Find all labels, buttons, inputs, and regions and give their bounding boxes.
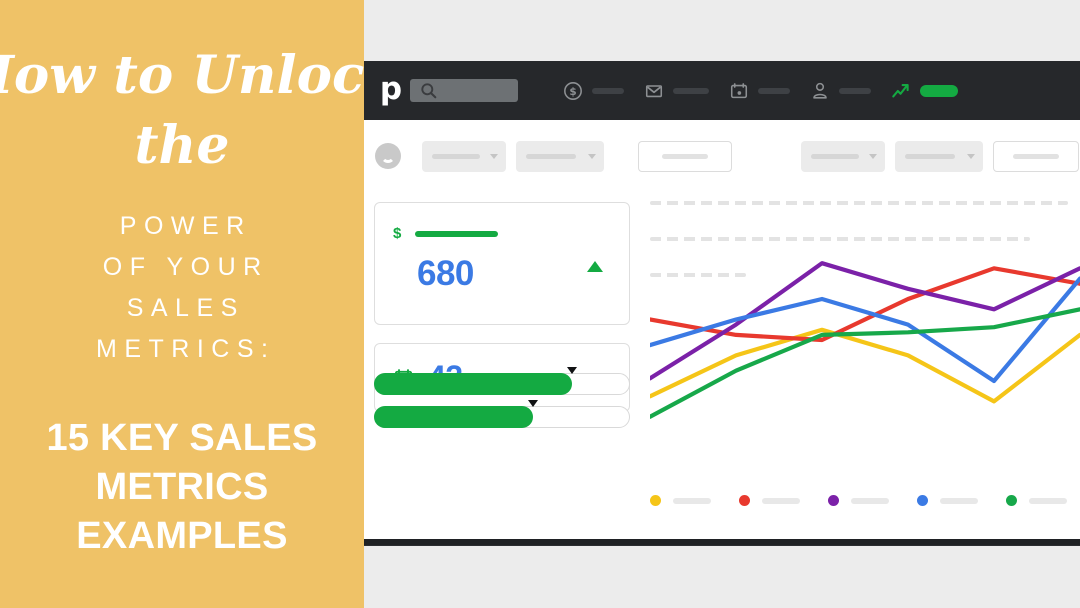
legend-label-placeholder bbox=[762, 498, 800, 504]
legend-label-placeholder bbox=[673, 498, 711, 504]
chart-plot-area bbox=[650, 194, 1080, 484]
app-logo[interactable]: p bbox=[374, 74, 408, 108]
toolbar-left-controls bbox=[422, 141, 604, 172]
chevron-down-icon bbox=[967, 154, 975, 159]
legend-label-placeholder bbox=[940, 498, 978, 504]
legend-item[interactable] bbox=[1006, 495, 1067, 506]
trending-up-icon bbox=[891, 81, 911, 101]
dropdown-label-placeholder bbox=[905, 154, 955, 159]
promo-script-line-1: How to Unlock bbox=[0, 50, 364, 102]
avatar[interactable] bbox=[375, 143, 401, 169]
nav-label-active-placeholder bbox=[920, 85, 958, 97]
chevron-down-icon bbox=[869, 154, 877, 159]
promo-script-line-2: the bbox=[135, 120, 230, 172]
filter-dropdown-1[interactable] bbox=[422, 141, 506, 172]
legend-dot-icon bbox=[650, 495, 661, 506]
nav-item-activities[interactable] bbox=[729, 81, 790, 101]
nav-label-placeholder bbox=[758, 88, 790, 94]
promo-bold-line-3: EXAMPLES bbox=[46, 512, 317, 561]
avatar-smile-icon bbox=[381, 149, 395, 163]
promo-thin-line-3: SALES bbox=[89, 288, 276, 329]
calendar-icon bbox=[729, 81, 749, 101]
nav-item-insights[interactable] bbox=[891, 81, 958, 101]
chevron-down-icon bbox=[490, 154, 498, 159]
button-label-placeholder bbox=[1013, 154, 1059, 159]
nav-label-placeholder bbox=[839, 88, 871, 94]
progress-marker-icon bbox=[528, 400, 538, 407]
legend-label-placeholder bbox=[1029, 498, 1067, 504]
legend-dot-icon bbox=[828, 495, 839, 506]
revenue-value: 680 bbox=[417, 254, 611, 294]
nav-label-placeholder bbox=[673, 88, 709, 94]
promo-subtitle-block: POWER OF YOUR SALES METRICS: bbox=[89, 206, 276, 370]
progress-bars bbox=[374, 371, 630, 437]
promo-bold-line-1: 15 KEY SALES bbox=[46, 414, 317, 463]
envelope-icon bbox=[644, 81, 664, 101]
device-bezel-hairline bbox=[364, 545, 1080, 546]
promo-thin-line-2: OF YOUR bbox=[89, 247, 276, 288]
screenshot-root: How to Unlock the POWER OF YOUR SALES ME… bbox=[0, 0, 1080, 608]
nav-item-contacts[interactable] bbox=[810, 81, 871, 101]
line-chart[interactable] bbox=[650, 194, 1080, 539]
promo-panel: How to Unlock the POWER OF YOUR SALES ME… bbox=[0, 0, 364, 608]
top-navigation-bar: p $ bbox=[364, 61, 1080, 120]
revenue-card-header: $ bbox=[393, 225, 611, 242]
legend-item[interactable] bbox=[739, 495, 800, 506]
revenue-card[interactable]: $ 680 bbox=[374, 202, 630, 325]
nav-label-placeholder bbox=[592, 88, 624, 94]
progress-fill bbox=[374, 406, 533, 428]
dollar-circle-icon: $ bbox=[563, 81, 583, 101]
progress-bar-1[interactable] bbox=[374, 371, 630, 395]
search-input[interactable] bbox=[410, 79, 518, 102]
promo-bold-line-2: METRICS bbox=[46, 463, 317, 512]
chart-legend bbox=[650, 495, 1080, 506]
dropdown-label-placeholder bbox=[526, 154, 576, 159]
person-icon bbox=[810, 81, 830, 101]
legend-item[interactable] bbox=[917, 495, 978, 506]
legend-label-placeholder bbox=[851, 498, 889, 504]
promo-thin-line-1: POWER bbox=[89, 206, 276, 247]
legend-dot-icon bbox=[739, 495, 750, 506]
nav-items: $ bbox=[563, 81, 958, 101]
svg-text:$: $ bbox=[569, 86, 576, 98]
revenue-trend-up-icon bbox=[587, 261, 603, 272]
legend-dot-icon bbox=[917, 495, 928, 506]
filter-dropdown-3[interactable] bbox=[801, 141, 885, 172]
dropdown-label-placeholder bbox=[811, 154, 859, 159]
chevron-down-icon bbox=[588, 154, 596, 159]
legend-item[interactable] bbox=[828, 495, 889, 506]
progress-fill bbox=[374, 373, 572, 395]
dollar-sign-icon: $ bbox=[393, 225, 401, 242]
nav-item-mail[interactable] bbox=[644, 81, 709, 101]
chart-series-line bbox=[650, 243, 1080, 381]
device-pane: p $ bbox=[364, 0, 1080, 608]
toolbar-right-controls bbox=[801, 141, 1079, 172]
progress-bar-2[interactable] bbox=[374, 404, 630, 428]
nav-item-deals[interactable]: $ bbox=[563, 81, 624, 101]
promo-thin-line-4: METRICS: bbox=[89, 329, 276, 370]
progress-marker-icon bbox=[567, 367, 577, 374]
toolbar-center-control bbox=[638, 141, 732, 172]
dropdown-label-placeholder bbox=[432, 154, 480, 159]
chart-series-line bbox=[650, 330, 1080, 402]
promo-headline-block: 15 KEY SALES METRICS EXAMPLES bbox=[46, 414, 317, 561]
promo-content: How to Unlock the POWER OF YOUR SALES ME… bbox=[0, 0, 364, 608]
filter-dropdown-2[interactable] bbox=[516, 141, 604, 172]
button-label-placeholder bbox=[662, 154, 708, 159]
revenue-label-placeholder bbox=[415, 231, 498, 237]
chart-series-line bbox=[650, 268, 1080, 340]
legend-item[interactable] bbox=[650, 495, 711, 506]
export-button[interactable] bbox=[993, 141, 1079, 172]
search-icon bbox=[419, 81, 439, 101]
legend-dot-icon bbox=[1006, 495, 1017, 506]
toolbar-row bbox=[364, 120, 1080, 192]
date-range-button[interactable] bbox=[638, 141, 732, 172]
filter-dropdown-4[interactable] bbox=[895, 141, 983, 172]
app-window: p $ bbox=[364, 61, 1080, 539]
